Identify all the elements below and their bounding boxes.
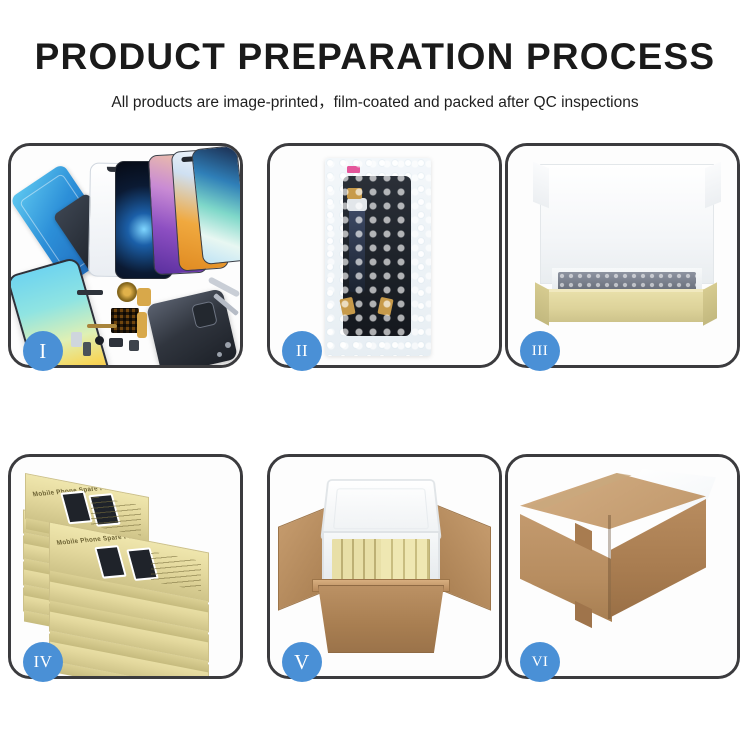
- lcd-connector: [347, 198, 367, 211]
- product-preparation-infographic: PRODUCT PREPARATION PROCESS All products…: [0, 0, 750, 750]
- packed-boxes-row-2: [381, 539, 429, 583]
- carton-front-wall: [318, 585, 444, 653]
- box-spec-lines-front: [151, 551, 201, 591]
- page-subtitle: All products are image-printed，film-coat…: [0, 75, 750, 112]
- box-thumbnail-c: [94, 545, 127, 579]
- page-title: PRODUCT PREPARATION PROCESS: [0, 0, 750, 75]
- step-badge-4: IV: [23, 642, 63, 682]
- carton-left-face: [520, 514, 612, 622]
- flex-cable-part-a: [137, 288, 151, 306]
- sim-tray-part: [71, 332, 82, 347]
- step-badge-6: VI: [520, 642, 560, 682]
- step-badge-3: III: [520, 331, 560, 371]
- step-panel-6: VI: [505, 454, 740, 679]
- box-stack: Mobile Phone Spare Parts Mobile Phone Sp…: [19, 481, 237, 661]
- pink-label-tab: [347, 166, 360, 173]
- carton-corner-edge: [608, 515, 611, 619]
- vibration-motor-part: [117, 282, 137, 302]
- step-panel-5: V: [267, 454, 502, 679]
- step-badge-1: I: [23, 331, 63, 371]
- header: PRODUCT PREPARATION PROCESS All products…: [0, 0, 750, 112]
- gold-strip-part: [87, 324, 117, 328]
- step-badge-2: II: [282, 331, 322, 371]
- step-badge-5: V: [282, 642, 322, 682]
- gold-contact-top: [347, 188, 362, 199]
- step-panel-4: Mobile Phone Spare Parts Mobile Phone Sp…: [8, 454, 243, 679]
- speaker-bar-part: [77, 290, 103, 295]
- small-module-part-c: [129, 340, 139, 351]
- flex-cable-part-b: [137, 312, 147, 338]
- chip-grid-part: [111, 308, 139, 333]
- steps-grid: I II: [8, 143, 742, 679]
- step-panel-3: III: [505, 143, 740, 368]
- lcd-flex-cable: [349, 206, 365, 292]
- step-panel-1: I: [8, 143, 243, 368]
- screw-part-b: [217, 352, 222, 357]
- screw-part-a: [225, 342, 231, 348]
- small-module-part-b: [83, 342, 91, 356]
- step-panel-2: II: [267, 143, 502, 368]
- small-module-part-a: [109, 338, 123, 347]
- bubble-wrap-bag: [325, 158, 431, 356]
- box-spec-lines-top: [91, 496, 141, 536]
- camera-lens-part: [95, 336, 104, 345]
- white-box-lid: [540, 164, 714, 284]
- yellow-tray-base: [544, 292, 708, 322]
